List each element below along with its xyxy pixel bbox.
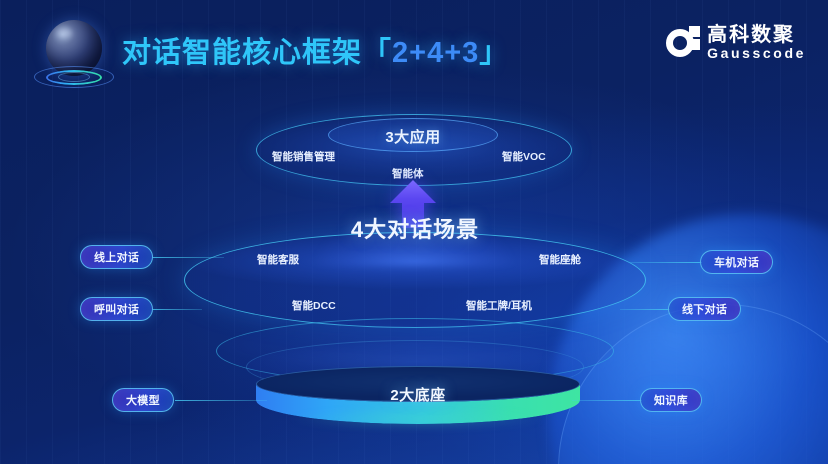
scenario-item-customer-service: 智能客服 [257, 252, 299, 267]
foundation-title: 2大底座 [256, 384, 580, 405]
scenario-item-cockpit: 智能座舱 [539, 252, 581, 267]
label-knowledge-base[interactable]: 知识库 [640, 388, 702, 412]
label-incar-dialogue[interactable]: 车机对话 [700, 250, 773, 274]
applications-title: 3大应用 [328, 119, 498, 153]
label-online-dialogue[interactable]: 线上对话 [80, 245, 153, 269]
connector-offline [620, 309, 670, 310]
connector-kb [572, 400, 642, 401]
framework-diagram: 3大应用 智能销售管理 智能体 智能VOC 4大对话场景 智能客服 智能座舱 [0, 0, 828, 464]
label-offline-dialogue[interactable]: 线下对话 [668, 297, 741, 321]
scenarios-ring [184, 232, 646, 328]
scenarios-title: 4大对话场景 [184, 212, 646, 244]
foundation-cylinder-glow [256, 406, 580, 432]
connector-car [630, 262, 702, 263]
scenario-item-badge-headset: 智能工牌/耳机 [466, 298, 532, 313]
scenario-item-dcc: 智能DCC [292, 298, 336, 313]
application-item-sales: 智能销售管理 [272, 149, 335, 164]
label-call-dialogue[interactable]: 呼叫对话 [80, 297, 153, 321]
slide-canvas: 对话智能核心框架「2+4+3」 高科数聚 Gausscode 3大应用 智能销售… [0, 0, 828, 464]
connector-online [152, 257, 224, 258]
application-item-voc: 智能VOC [502, 149, 546, 164]
connector-llm [175, 400, 267, 401]
label-large-model[interactable]: 大模型 [112, 388, 174, 412]
connector-call [152, 309, 202, 310]
